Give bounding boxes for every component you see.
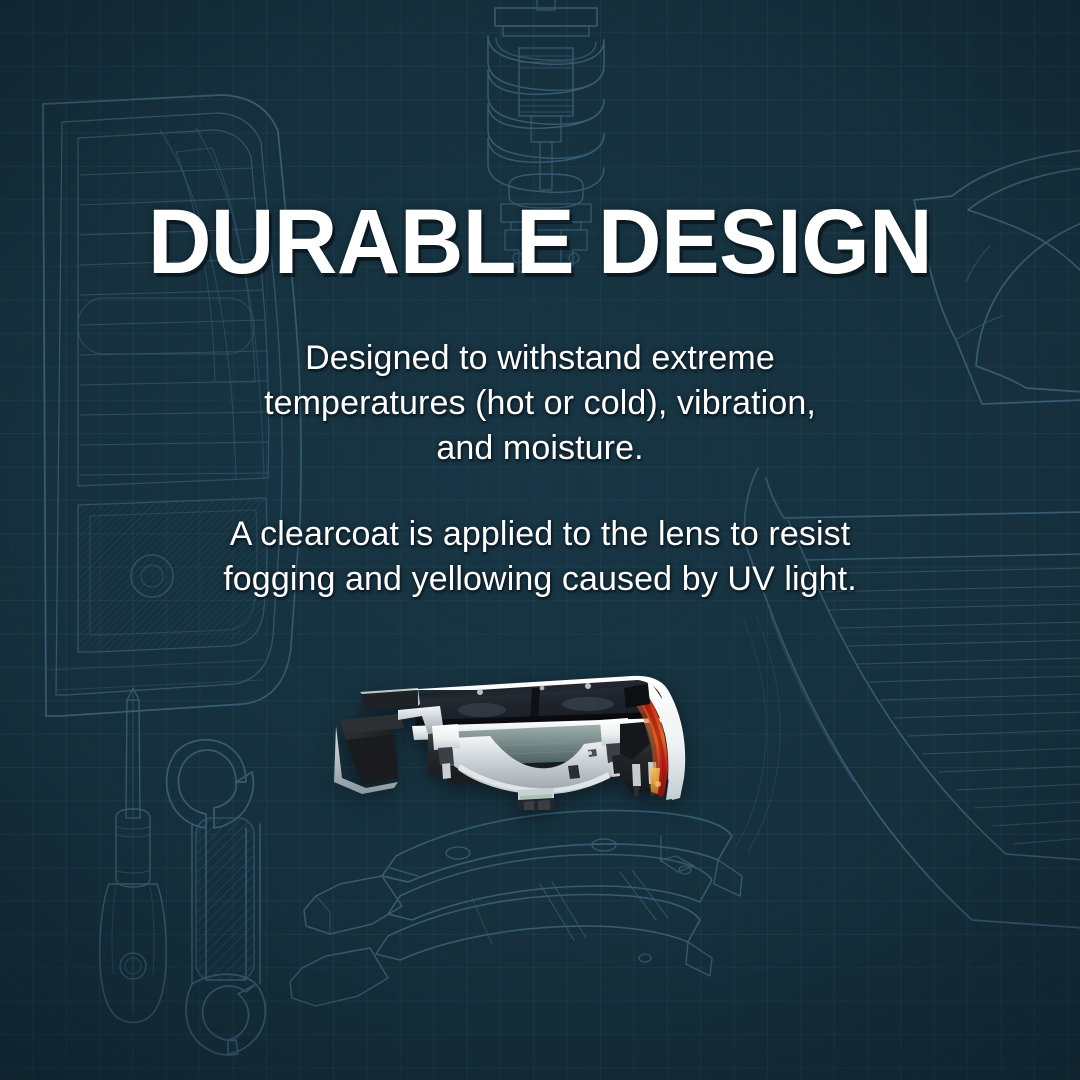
promo-graphic: DURABLE DESIGN Designed to withstand ext…: [0, 0, 1080, 1080]
page-title: DURABLE DESIGN: [24, 196, 1055, 288]
bp-wrench: [167, 740, 266, 1055]
body-paragraph-2: A clearcoat is applied to the lens to re…: [110, 512, 970, 602]
bp-brake-pads: [290, 811, 742, 1006]
body-paragraph-1: Designed to withstand extreme temperatur…: [140, 336, 940, 471]
tail-light-assembly-photo: [332, 628, 752, 810]
bp-screwdriver: [100, 688, 166, 1023]
